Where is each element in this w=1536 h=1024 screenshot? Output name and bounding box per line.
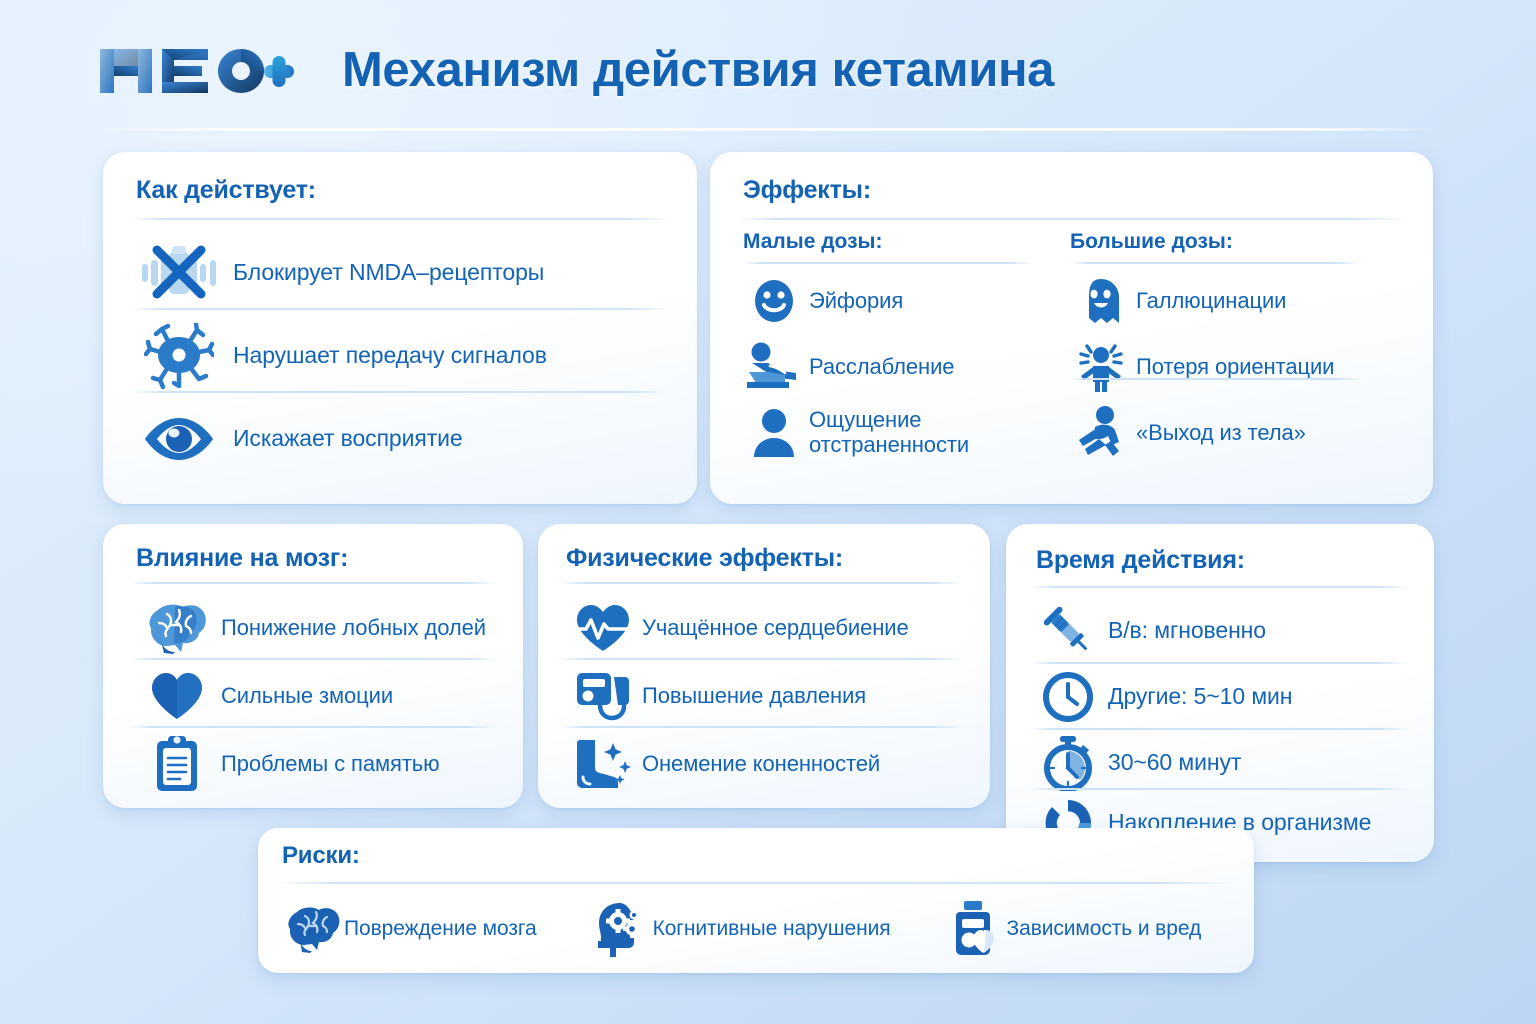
list-divider <box>560 658 964 660</box>
card-title-divider <box>276 882 1236 884</box>
list-item-label: Учащённое сердцебиение <box>642 616 909 641</box>
card-title-divider <box>130 218 670 220</box>
head-gears-icon <box>591 901 653 957</box>
list-divider <box>130 391 670 393</box>
dizzy-person-icon <box>1070 342 1132 392</box>
list-item: Зависимость и вред <box>945 900 1202 958</box>
neo-plus-logo <box>96 40 296 102</box>
list-item: Галлюцинации <box>1070 268 1370 334</box>
card-title: Влияние на мозг: <box>136 544 348 573</box>
column-low-doses: Малые дозы: Эйфория <box>743 230 1043 466</box>
list-item-label: Когнитивные нарушения <box>653 917 891 941</box>
list-item: Повреждение мозга <box>282 904 537 954</box>
smiley-face-icon <box>743 276 805 326</box>
list-divider <box>130 726 496 728</box>
column-title: Большие дозы: <box>1070 230 1370 254</box>
card-title-divider <box>130 582 496 584</box>
card-duration: Время действия: <box>1006 524 1434 862</box>
list-item: Онемение коненностей <box>564 732 968 796</box>
list-item: Расслабление <box>743 334 1043 400</box>
card-title: Эффекты: <box>743 176 871 205</box>
list-item-label: В/в: мгновенно <box>1108 618 1266 644</box>
eye-icon <box>133 414 225 464</box>
card-title-divider <box>560 582 964 584</box>
column-title: Малые дозы: <box>743 230 1043 254</box>
list-item-label: «Выход из тела» <box>1136 421 1306 446</box>
card-title: Как действует: <box>136 176 316 205</box>
list-item: Понижение лобных долей <box>133 596 499 660</box>
ghost-icon <box>1070 276 1132 326</box>
list-item: Проблемы с памятью <box>133 732 499 796</box>
reclining-person-icon <box>743 341 805 393</box>
column-divider <box>743 262 1033 264</box>
list-divider <box>560 726 964 728</box>
infographic-canvas: Механизм действия кетамина Как действует… <box>0 0 1536 1024</box>
list-item: Когнитивные нарушения <box>591 901 891 957</box>
syringe-icon <box>1034 603 1102 659</box>
pill-bottle-icon <box>945 900 1007 958</box>
list-item: Блокирует NMDA–рецепторы <box>133 236 673 310</box>
clipboard-icon <box>133 735 221 793</box>
page-title: Механизм действия кетамина <box>342 42 1054 98</box>
list-item: Потеря ориентации <box>1070 334 1370 400</box>
list-item-label: 30~60 минут <box>1108 750 1241 776</box>
list-item: Ощущение отстраненности <box>743 400 1043 466</box>
list-item-label: Ощущение отстраненности <box>809 408 969 457</box>
card-title-divider <box>1030 586 1408 588</box>
card-physical-effects: Физические эффекты: Учащённое сердцебиен… <box>538 524 990 808</box>
risks-list: Повреждение мозга <box>282 894 1232 964</box>
list-item: Эйфория <box>743 268 1043 334</box>
list-item-label: Повышение давления <box>642 684 866 709</box>
list-item-label: Искажает восприятие <box>233 426 463 452</box>
heart-icon <box>133 670 221 722</box>
card-title: Время действия: <box>1036 546 1245 575</box>
list-item-label: Сильные змоции <box>221 684 393 709</box>
card-risks: Риски: <box>258 828 1254 973</box>
list-divider <box>1030 728 1408 730</box>
list-item: Другие: 5~10 мин <box>1034 666 1412 728</box>
card-brain-impact: Влияние на мозг: Понижение лобн <box>103 524 523 808</box>
neuron-icon <box>133 323 225 389</box>
floating-person-icon <box>1070 405 1132 461</box>
card-title: Риски: <box>282 842 360 870</box>
blocked-receptor-icon <box>133 242 225 304</box>
list-divider <box>1070 378 1360 380</box>
list-item: Учащённое сердцебиение <box>564 596 968 660</box>
card-title-divider <box>737 218 1407 220</box>
list-item-label: Проблемы с памятью <box>221 752 440 777</box>
stopwatch-icon <box>1034 735 1102 791</box>
list-item-label: Блокирует NMDA–рецепторы <box>233 260 544 286</box>
brain-damage-icon <box>282 904 344 954</box>
column-high-doses: Большие дозы: Галлюцинации <box>1070 230 1370 466</box>
list-item: В/в: мгновенно <box>1034 600 1412 662</box>
list-item: Искажает восприятие <box>133 402 673 476</box>
card-title: Физические эффекты: <box>566 544 843 573</box>
list-item-label: Повреждение мозга <box>344 917 537 941</box>
list-item: Повышение давления <box>564 664 968 728</box>
person-bust-icon <box>743 407 805 459</box>
list-item-label: Нарушает передачу сигналов <box>233 343 547 369</box>
list-divider <box>130 658 496 660</box>
list-item: Сильные змоции <box>133 664 499 728</box>
list-item: 30~60 минут <box>1034 732 1412 794</box>
card-effects: Эффекты: Малые дозы: Эйфория <box>710 152 1433 504</box>
list-item-label: Галлюцинации <box>1136 289 1286 314</box>
list-item-label: Другие: 5~10 мин <box>1108 684 1292 710</box>
column-divider <box>1070 262 1360 264</box>
list-item-label: Расслабление <box>809 355 954 380</box>
list-item-label: Потеря ориентации <box>1136 355 1334 380</box>
list-item-label: Эйфория <box>809 289 903 314</box>
list-item: «Выход из тела» <box>1070 400 1370 466</box>
list-divider <box>1030 662 1408 664</box>
clock-icon <box>1034 671 1102 723</box>
list-item-label: Зависимость и вред <box>1007 917 1202 941</box>
header-divider <box>96 128 1440 131</box>
list-divider <box>130 308 670 310</box>
list-item-label: Онемение коненностей <box>642 752 880 777</box>
brain-icon <box>133 602 221 654</box>
heartbeat-icon <box>564 602 642 654</box>
numb-leg-icon <box>564 737 642 791</box>
list-item-label: Понижение лобных долей <box>221 616 486 641</box>
list-divider <box>1030 788 1408 790</box>
list-item: Нарушает передачу сигналов <box>133 319 673 393</box>
blood-pressure-monitor-icon <box>564 668 642 724</box>
card-how-it-works: Как действует: <box>103 152 697 504</box>
